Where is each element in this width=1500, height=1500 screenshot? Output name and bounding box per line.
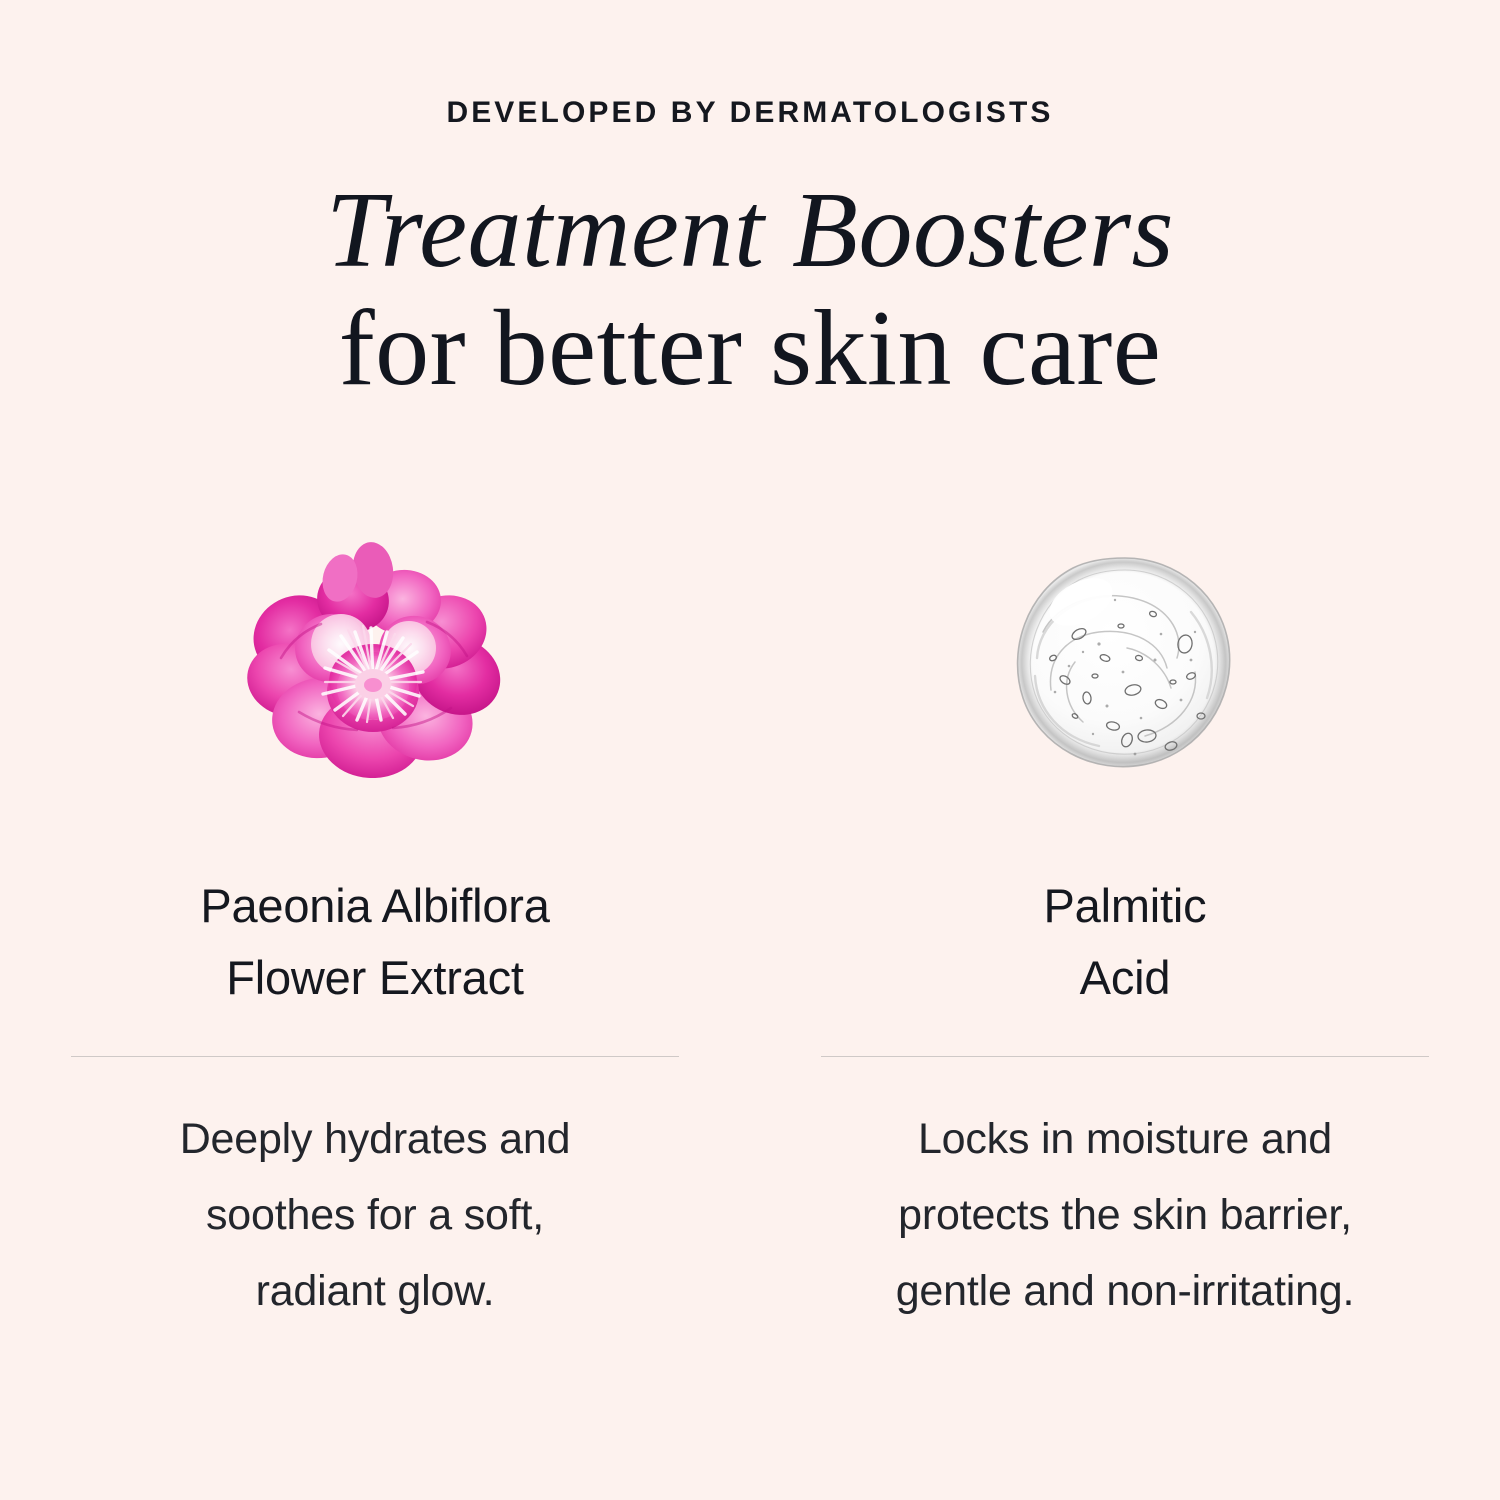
ingredient-description: Locks in moisture and protects the skin … bbox=[805, 1101, 1445, 1329]
description-line: protects the skin barrier, bbox=[805, 1177, 1445, 1253]
ingredient-description: Deeply hydrates and soothes for a soft, … bbox=[65, 1101, 685, 1329]
description-line: soothes for a soft, bbox=[65, 1177, 685, 1253]
page-title: Treatment Boosters for better skin care bbox=[0, 172, 1500, 408]
headline-line-2: for better skin care bbox=[0, 290, 1500, 408]
description-line: Locks in moisture and bbox=[805, 1101, 1445, 1177]
description-line: gentle and non-irritating. bbox=[805, 1253, 1445, 1329]
infographic-page: DEVELOPED BY DERMATOLOGISTS Treatment Bo… bbox=[0, 0, 1500, 1500]
divider bbox=[821, 1056, 1429, 1057]
ingredient-name-line-2: Acid bbox=[1044, 942, 1207, 1014]
eyebrow-text: DEVELOPED BY DERMATOLOGISTS bbox=[0, 96, 1500, 130]
ingredient-columns: Paeonia Albiflora Flower Extract Deeply … bbox=[0, 540, 1500, 1329]
ingredient-card-palmitic-acid: Palmitic Acid Locks in moisture and prot… bbox=[750, 540, 1500, 1329]
ingredient-name-line-2: Flower Extract bbox=[200, 942, 549, 1014]
description-line: radiant glow. bbox=[65, 1253, 685, 1329]
ingredient-name: Palmitic Acid bbox=[1044, 870, 1207, 1014]
divider bbox=[71, 1056, 679, 1057]
ingredient-name: Paeonia Albiflora Flower Extract bbox=[200, 870, 549, 1014]
peony-flower-icon bbox=[245, 540, 505, 790]
ingredient-name-line-1: Palmitic bbox=[1044, 870, 1207, 942]
headline-line-1: Treatment Boosters bbox=[0, 172, 1500, 290]
ingredient-card-peony: Paeonia Albiflora Flower Extract Deeply … bbox=[0, 540, 750, 1329]
ingredient-name-line-1: Paeonia Albiflora bbox=[200, 870, 549, 942]
gel-droplet-icon bbox=[995, 540, 1255, 790]
description-line: Deeply hydrates and bbox=[65, 1101, 685, 1177]
